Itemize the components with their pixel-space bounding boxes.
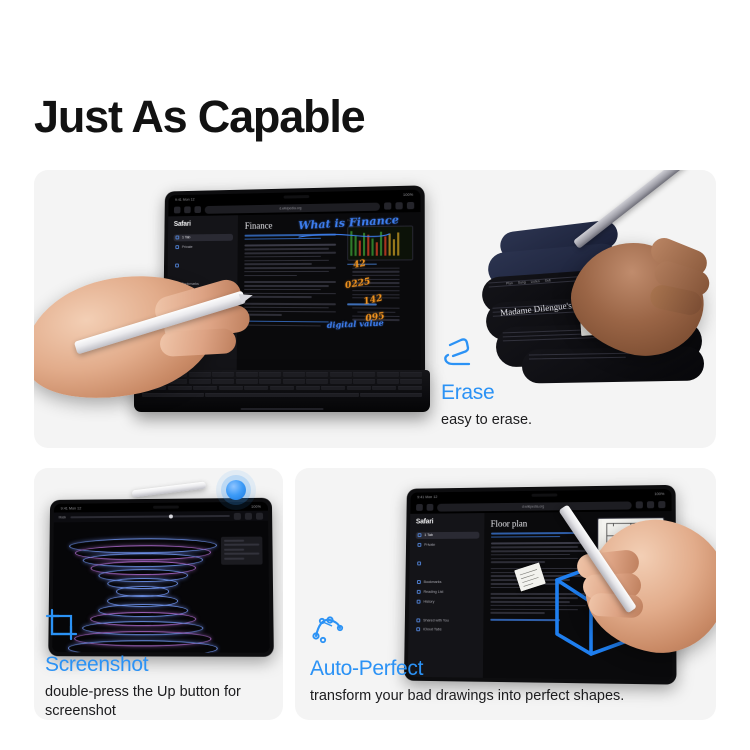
keyboard-row[interactable] — [134, 386, 430, 390]
article-paragraph — [244, 303, 341, 317]
sidebar-item-private[interactable]: Private — [173, 243, 233, 251]
sidebar-item-label: Private — [424, 543, 435, 547]
clock-icon — [417, 599, 421, 603]
share-icon[interactable] — [384, 202, 391, 209]
article-toc — [347, 263, 413, 320]
inspector-panel[interactable] — [220, 537, 262, 565]
feature-erase: Erase easy to erase. — [441, 336, 532, 430]
feature-title: Screenshot — [45, 654, 260, 676]
article-paragraph — [244, 320, 341, 326]
feature-description: easy to erase. — [441, 411, 532, 430]
tabs-overview-icon[interactable] — [658, 501, 665, 508]
dynamic-island — [283, 195, 309, 199]
feature-description: double-press the Up button for screensho… — [45, 683, 260, 720]
fragment-text-lines — [522, 346, 705, 383]
private-icon — [175, 245, 179, 249]
tab-label: Sell — [545, 278, 551, 282]
sidebar-title: Safari — [416, 518, 479, 525]
address-bar[interactable]: d.wikipedia.org — [437, 501, 632, 511]
article-heading: Finance — [245, 219, 341, 230]
sidebar-item-tabs[interactable]: 1 Tab — [416, 531, 479, 538]
trackpad[interactable] — [241, 408, 324, 410]
sidebar-item-label: Private — [182, 245, 193, 249]
forward-icon[interactable] — [194, 206, 201, 213]
status-bar-time: 9:41 Mon 12 — [175, 197, 195, 201]
feature-auto-perfect: Auto-Perfect transform your bad drawings… — [310, 612, 624, 706]
eraser-icon — [441, 336, 477, 370]
sidebar-toggle-icon[interactable] — [174, 207, 181, 214]
bookmark-icon — [417, 580, 421, 584]
apple-pencil[interactable] — [132, 482, 206, 498]
bezier-node-icon — [310, 612, 346, 646]
sidebar-item-reading-list[interactable]: Reading List — [415, 588, 479, 595]
group-icon — [175, 264, 179, 268]
keyboard-row[interactable] — [134, 379, 430, 383]
sidebar-item-label: Reading List — [424, 590, 444, 594]
keyboard-row[interactable] — [134, 393, 430, 397]
article-paragraph — [490, 593, 591, 614]
feature-title: Auto-Perfect — [310, 658, 624, 680]
article-paragraph — [244, 244, 341, 276]
layers-icon[interactable] — [234, 512, 241, 519]
apple-pencil[interactable] — [573, 170, 686, 249]
sidebar-divider — [415, 550, 478, 557]
address-bar[interactable]: d.wikipedia.org — [205, 202, 380, 213]
back-icon[interactable] — [184, 206, 191, 213]
share-icon[interactable] — [256, 512, 263, 519]
opacity-slider[interactable] — [70, 515, 230, 518]
tab-label: Listen — [531, 279, 540, 284]
status-bar-battery: 100% — [403, 192, 413, 196]
group-icon — [417, 561, 421, 565]
sidebar-item-bookmarks[interactable]: Bookmarks — [415, 579, 478, 586]
tab-label: Song — [518, 280, 526, 285]
sidebar-divider — [173, 252, 233, 259]
feature-title: Erase — [441, 382, 532, 404]
sidebar-item-private[interactable]: Private — [416, 541, 479, 548]
page-title: Just As Capable — [34, 94, 364, 139]
promo-page: Just As Capable 9:41 Mon 12 100% d.wikip… — [0, 0, 750, 750]
stock-chart-image — [348, 227, 412, 260]
article-chart-thumb — [347, 225, 413, 260]
tabs-icon — [418, 533, 422, 537]
status-bar-time: 9:41 Mon 12 — [417, 495, 437, 499]
sidebar-item-history[interactable]: History — [415, 598, 479, 605]
sidebar-item-group[interactable] — [415, 560, 478, 567]
article-paragraph — [490, 542, 590, 563]
sidebar-item-tabs[interactable]: 1 Tab — [174, 233, 234, 241]
dynamic-island — [153, 506, 179, 509]
status-bar-time: 9:41 Mon 12 — [61, 506, 82, 510]
glasses-icon — [417, 590, 421, 594]
sidebar-item-label: History — [423, 599, 434, 603]
article-main-column: Finance — [244, 219, 341, 367]
feature-description: transform your bad drawings into perfect… — [310, 687, 624, 706]
sidebar-item-group[interactable] — [173, 262, 233, 269]
sidebar-item-label: 1 Tab — [424, 533, 433, 537]
sidebar-item-label: 1 Tab — [182, 235, 190, 239]
sidebar-item-label: Bookmarks — [424, 580, 442, 584]
article-paragraph — [244, 281, 341, 298]
feature-screenshot: Screenshot double-press the Up button fo… — [45, 608, 260, 720]
tab-label: Plan — [506, 281, 513, 285]
status-bar-battery: 100% — [251, 504, 261, 508]
side-label: Finance — [347, 218, 413, 222]
back-icon[interactable] — [427, 504, 434, 511]
sidebar-title: Safari — [174, 220, 234, 228]
status-bar-battery: 100% — [654, 492, 664, 496]
finger — [159, 328, 236, 357]
new-tab-icon[interactable] — [395, 202, 402, 209]
sidebar-toggle-icon[interactable] — [416, 504, 423, 511]
share-icon[interactable] — [636, 501, 643, 508]
panel-hero: 9:41 Mon 12 100% d.wikipedia.org Safari — [34, 170, 716, 448]
up-button-highlight[interactable] — [226, 480, 246, 500]
private-icon — [417, 543, 421, 547]
dynamic-island — [531, 493, 557, 496]
tabs-icon — [175, 236, 179, 240]
article-side-column: Finance — [347, 218, 414, 369]
sidebar-divider — [173, 271, 233, 278]
new-tab-icon[interactable] — [647, 501, 654, 508]
tabs-overview-icon[interactable] — [407, 202, 414, 209]
article-paragraph — [245, 234, 341, 240]
sidebar-divider — [415, 569, 478, 576]
adjust-icon[interactable] — [245, 512, 252, 519]
article-content: Finance — [237, 212, 421, 375]
fragment-blob — [522, 346, 705, 383]
tool-label: Mask — [59, 515, 66, 519]
crop-frame-icon — [45, 608, 81, 642]
